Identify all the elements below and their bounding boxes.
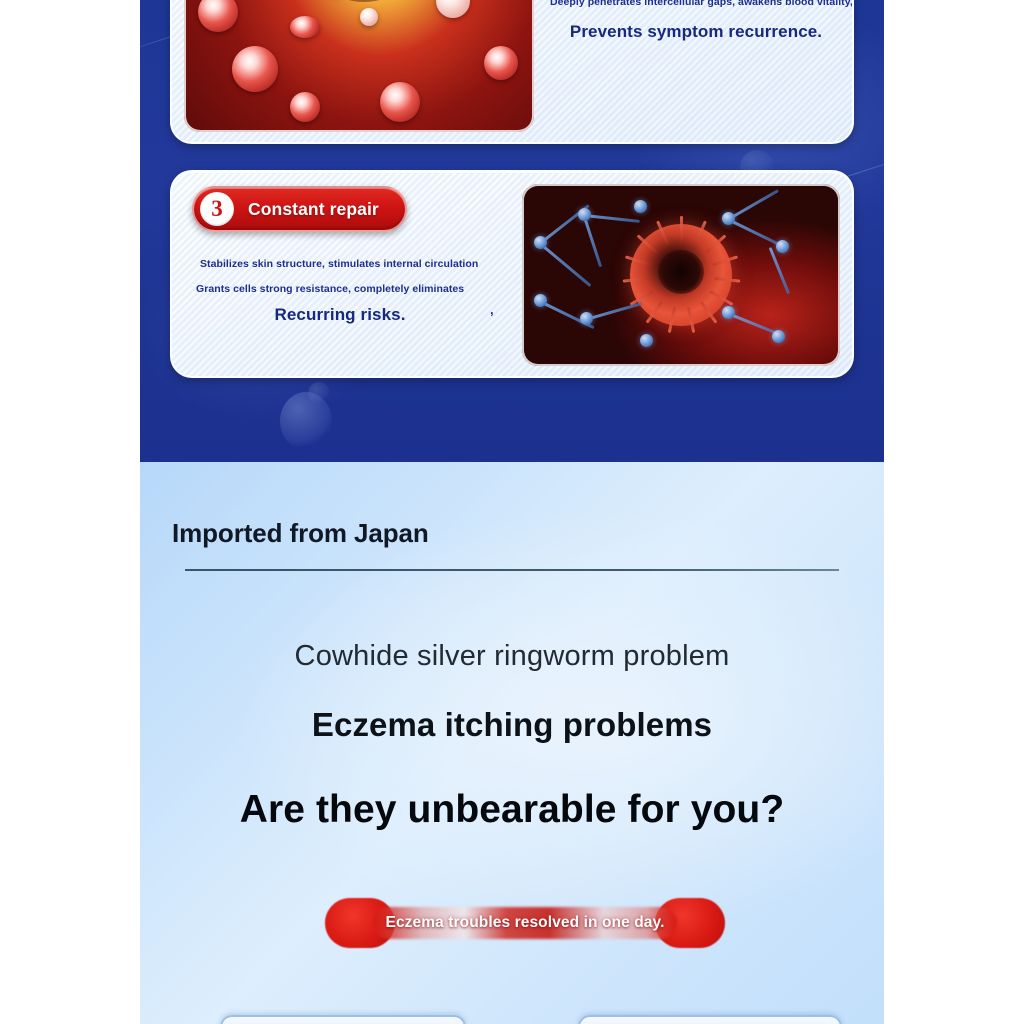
red-blood-cell [380, 82, 420, 122]
feature-card-3-headline: Recurring risks. [190, 305, 530, 325]
lattice-node [640, 334, 653, 347]
virus-molecule-photo [522, 184, 840, 366]
feature-card-2: 2 Strong antibacterial Deeply penetrates… [170, 0, 854, 144]
feature-card-2-subtext: Deeply penetrates intercellular gaps, aw… [550, 0, 842, 8]
feature-badge-3[interactable]: 3 Constant repair [192, 186, 407, 232]
lattice-node [722, 212, 735, 225]
question-line-3: Are they unbearable for you? [140, 788, 884, 832]
lattice-strut [583, 215, 603, 267]
virus-spike [680, 216, 683, 242]
feature-card-3-comma: , [490, 302, 494, 317]
red-blood-cell [232, 46, 278, 92]
badge-number: 3 [200, 192, 234, 226]
lattice-node [534, 294, 547, 307]
question-line-2: Eczema itching problems [140, 706, 884, 744]
red-blood-cell [290, 92, 320, 122]
red-blood-cell [198, 0, 238, 32]
lattice-node [722, 306, 735, 319]
feature-card-2-headline: Prevents symptom recurrence. [550, 22, 842, 42]
feature-card-3: 3 Constant repair Stabilizes skin struct… [170, 170, 854, 378]
blue-feature-section: 2 Strong antibacterial Deeply penetrates… [140, 0, 884, 462]
title-divider [185, 569, 839, 571]
white-blood-cell [436, 0, 470, 18]
question-line-1: Cowhide silver ringworm problem [140, 640, 884, 673]
lattice-node [534, 236, 547, 249]
decorative-bubble [280, 392, 332, 450]
bottom-card-left [220, 1015, 466, 1024]
vessel-gap-shape [304, 0, 424, 2]
lattice-node [776, 240, 789, 253]
red-blood-cell [484, 46, 518, 80]
imported-title: Imported from Japan [172, 518, 429, 549]
product-intro-section: Imported from Japan Cowhide silver ringw… [140, 462, 884, 1024]
platelet [360, 8, 378, 26]
feature-card-3-subtext-2: Grants cells strong resistance, complete… [190, 283, 530, 295]
blood-cells-photo [184, 0, 534, 132]
feature-card-3-subtext-1: Stabilizes skin structure, stimulates in… [190, 258, 530, 270]
lattice-node [634, 200, 647, 213]
lattice-node [578, 208, 591, 221]
red-highlight-bar: Eczema troubles resolved in one day. [325, 898, 725, 948]
feature-card-2-text: 2 Strong antibacterial Deeply penetrates… [550, 0, 842, 130]
lattice-strut [769, 247, 791, 294]
page-root: 2 Strong antibacterial Deeply penetrates… [0, 0, 1024, 1024]
red-blood-cell [290, 16, 320, 38]
lattice-strut [539, 242, 591, 287]
badge-label: Constant repair [248, 199, 379, 220]
red-bar-label: Eczema troubles resolved in one day. [325, 898, 725, 948]
bottom-card-right [578, 1015, 842, 1024]
feature-card-3-text: 3 Constant repair Stabilizes skin struct… [190, 186, 530, 325]
content-column: 2 Strong antibacterial Deeply penetrates… [140, 0, 884, 1024]
decorative-bubble [308, 382, 330, 404]
lattice-node [580, 312, 593, 325]
lattice-node [772, 330, 785, 343]
